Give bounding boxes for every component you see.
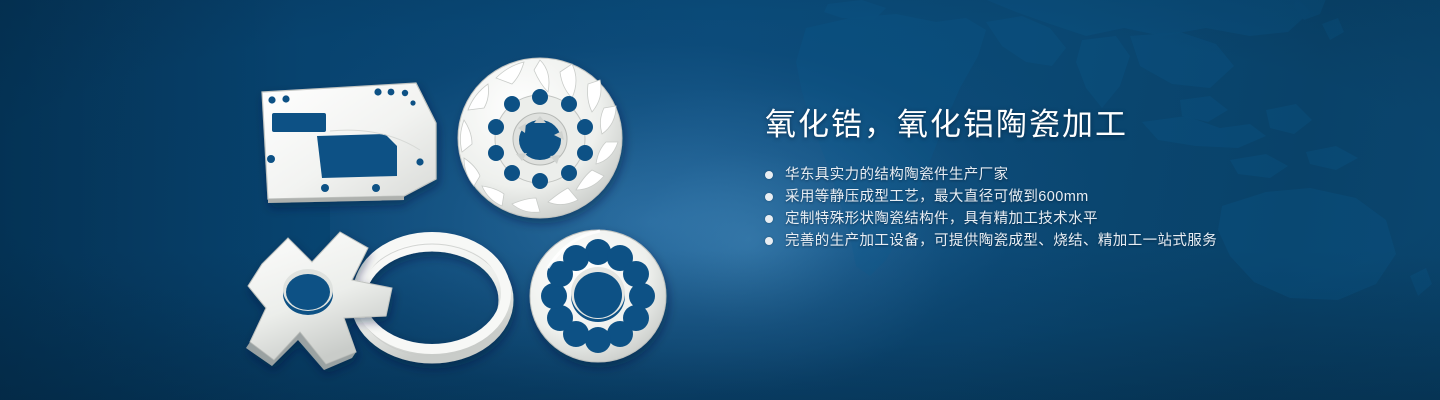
- banner-text-block: 氧化锆，氧化铝陶瓷加工 华东具实力的结构陶瓷件生产厂家 采用等静压成型工艺，最大…: [765, 104, 1385, 252]
- list-item: 采用等静压成型工艺，最大直径可做到600mm: [765, 186, 1385, 208]
- page-title: 氧化锆，氧化铝陶瓷加工: [765, 104, 1385, 146]
- feature-text: 采用等静压成型工艺，最大直径可做到600mm: [785, 186, 1089, 208]
- feature-list: 华东具实力的结构陶瓷件生产厂家 采用等静压成型工艺，最大直径可做到600mm 定…: [765, 164, 1385, 252]
- bullet-dot-icon: [765, 237, 773, 245]
- feature-text: 华东具实力的结构陶瓷件生产厂家: [785, 164, 1009, 186]
- list-item: 华东具实力的结构陶瓷件生产厂家: [765, 164, 1385, 186]
- bullet-dot-icon: [765, 215, 773, 223]
- list-item: 完善的生产加工设备，可提供陶瓷成型、烧结、精加工一站式服务: [765, 230, 1385, 252]
- bullet-dot-icon: [765, 193, 773, 201]
- bullet-dot-icon: [765, 171, 773, 179]
- feature-text: 完善的生产加工设备，可提供陶瓷成型、烧结、精加工一站式服务: [785, 230, 1217, 252]
- feature-text: 定制特殊形状陶瓷结构件，具有精加工技术水平: [785, 208, 1098, 230]
- list-item: 定制特殊形状陶瓷结构件，具有精加工技术水平: [765, 208, 1385, 230]
- promo-banner: 氧化锆，氧化铝陶瓷加工 华东具实力的结构陶瓷件生产厂家 采用等静压成型工艺，最大…: [0, 0, 1440, 400]
